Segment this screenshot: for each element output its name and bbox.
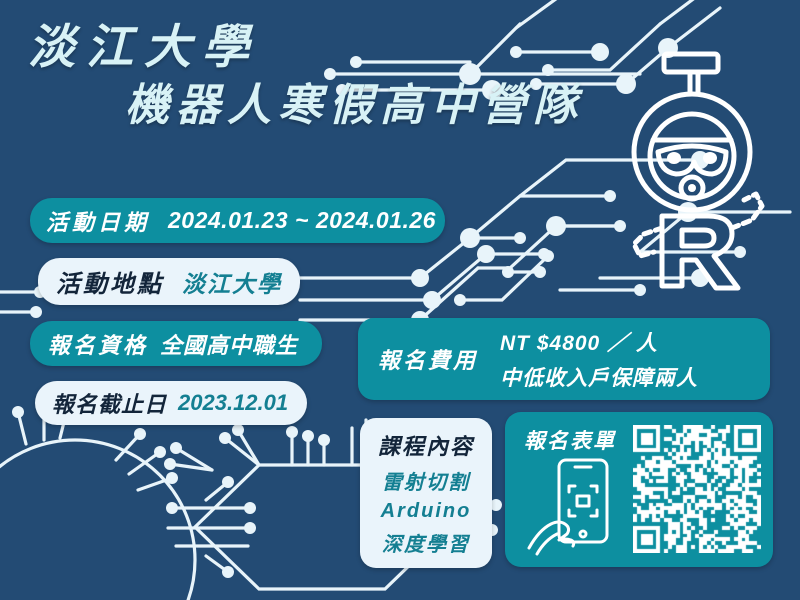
title-line-2: 機器人寒假高中營隊 <box>0 77 640 134</box>
date-value: 2024.01.23 ~ 2024.01.26 <box>168 207 436 234</box>
title-line-1: 淡江大學 <box>0 18 640 77</box>
course-item-0: 雷射切割 <box>382 466 470 495</box>
deadline-value: 2023.12.01 <box>178 390 288 416</box>
venue-label: 活動地點 <box>56 264 164 299</box>
signup-card[interactable]: 報名表單 <box>505 412 773 567</box>
fee-line-2: 中低收入戶保障兩人 <box>500 362 698 392</box>
fee-label: 報名費用 <box>378 343 478 375</box>
qr-code[interactable] <box>633 425 761 553</box>
fee-values: NT $4800 ／ 人 中低收入戶保障兩人 <box>500 327 698 392</box>
venue-value: 淡江大學 <box>182 265 282 299</box>
course-item-1: Arduino <box>381 500 472 523</box>
poster-canvas: 淡江大學 機器人寒假高中營隊 活動日期 2024.01.23 ~ 2024.01… <box>0 0 800 600</box>
eligibility-label: 報名資格 <box>48 328 148 360</box>
deadline-label: 報名截止日 <box>52 387 167 419</box>
course-item-2: 深度學習 <box>382 528 470 557</box>
phone-scan-icon <box>525 454 629 558</box>
fee-line-1: NT $4800 ／ 人 <box>500 327 698 357</box>
info-card-fee: 報名費用 NT $4800 ／ 人 中低收入戶保障兩人 <box>358 318 770 400</box>
info-row-eligibility: 報名資格 全國高中職生 <box>30 321 322 366</box>
info-row-date: 活動日期 2024.01.23 ~ 2024.01.26 <box>30 198 445 243</box>
info-card-course: 課程內容 雷射切割 Arduino 深度學習 <box>360 418 492 568</box>
eligibility-value: 全國高中職生 <box>160 328 298 360</box>
poster-title: 淡江大學 機器人寒假高中營隊 <box>0 18 640 134</box>
date-label: 活動日期 <box>46 205 150 237</box>
info-row-deadline: 報名截止日 2023.12.01 <box>35 381 307 425</box>
course-title: 課程內容 <box>378 429 474 461</box>
signup-title: 報名表單 <box>524 425 616 455</box>
info-row-venue: 活動地點 淡江大學 <box>38 258 300 305</box>
robot-mascot-icon <box>620 48 800 298</box>
